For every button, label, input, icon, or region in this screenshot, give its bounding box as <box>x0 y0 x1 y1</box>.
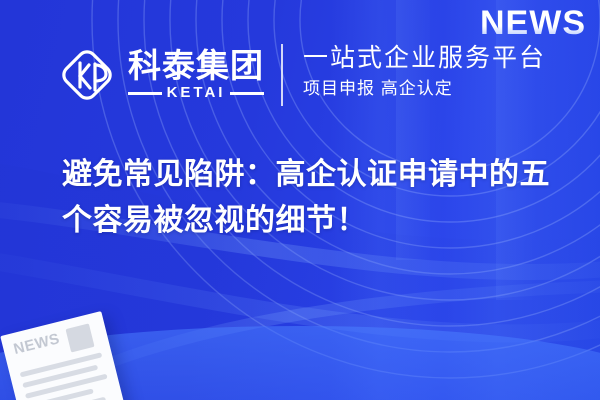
image-placeholder-icon <box>65 323 94 352</box>
brand-name-en: KETAI <box>167 85 226 101</box>
slogan-main: 一站式企业服务平台 <box>303 42 546 74</box>
page-title: 避免常见陷阱：高企认证申请中的五个容易被忽视的细节！ <box>62 152 562 244</box>
brand-name-en-row: KETAI <box>128 85 264 101</box>
header-divider <box>281 44 283 106</box>
logo-dash-right <box>230 92 264 95</box>
brand-logo: 科泰集团 KETAI <box>58 40 264 110</box>
brand-name-cn: 科泰集团 <box>128 49 264 83</box>
brand-wordmark: 科泰集团 KETAI <box>128 49 264 101</box>
ketai-diamond-kd-monogram-icon <box>58 46 116 104</box>
logo-dash-left <box>128 92 162 95</box>
newspaper-masthead: NEWS <box>12 331 61 358</box>
slogan-block: 一站式企业服务平台 项目申报 高企认定 <box>303 42 546 100</box>
news-banner: 科泰集团 KETAI 一站式企业服务平台 项目申报 高企认定 NEWS 避免常见… <box>0 0 600 400</box>
news-wordmark: NEWS <box>480 4 586 42</box>
slogan-sub: 项目申报 高企认定 <box>303 78 546 100</box>
